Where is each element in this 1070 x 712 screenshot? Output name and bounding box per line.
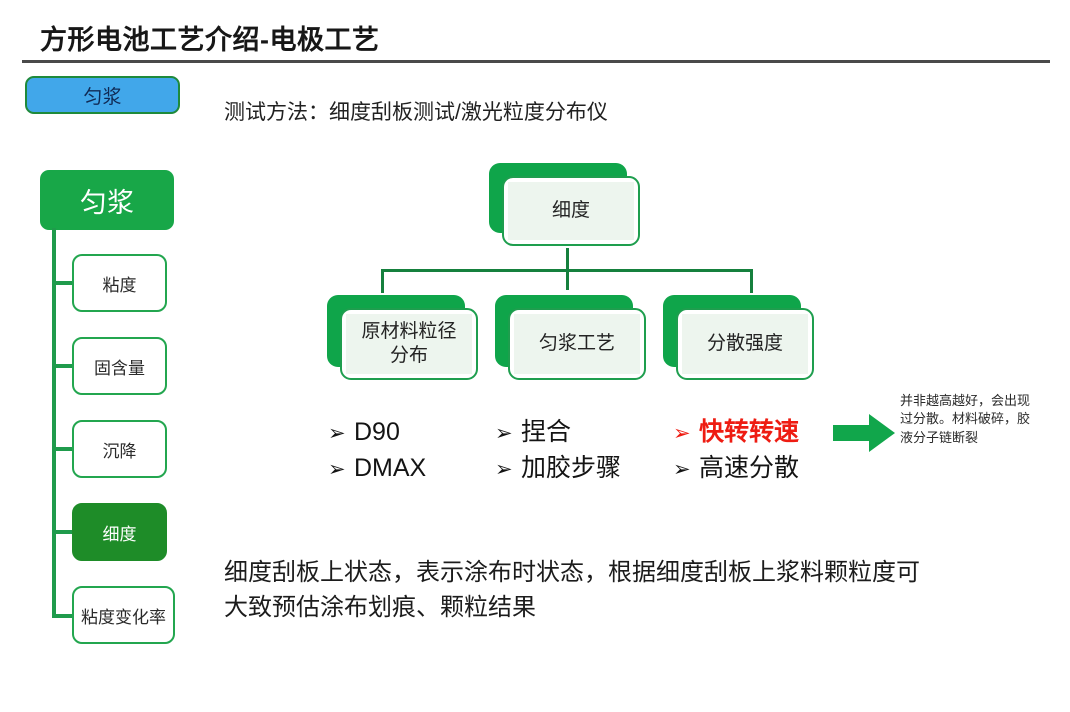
- bullet-item: ➢ 捏合: [495, 415, 621, 451]
- bullet-arrow-icon: ➢: [328, 419, 354, 449]
- bullet-item: ➢ 加胶步骤: [495, 451, 621, 487]
- tree-branch-line: [52, 281, 74, 285]
- bullet-label: 加胶步骤: [521, 451, 621, 487]
- flow-node-raw-material-particle-size[interactable]: 原材料粒径 分布: [327, 295, 465, 367]
- sidebar-item-solid-content[interactable]: 固含量: [72, 337, 167, 395]
- bullet-label: 高速分散: [699, 451, 799, 487]
- sidebar-item-label: 粘度: [103, 271, 137, 296]
- connector-horizontal: [381, 269, 753, 272]
- flow-node-root-label: 细度: [508, 182, 634, 240]
- bullet-arrow-icon: ➢: [328, 455, 354, 485]
- bottom-description-text: 细度刮板上状态，表示涂布时状态，根据细度刮板上浆料颗粒度可大致预估涂布划痕、颗粒…: [224, 556, 924, 626]
- flow-node-label: 分散强度: [682, 314, 808, 374]
- sidebar-item-sedimentation[interactable]: 沉降: [72, 420, 167, 478]
- bullet-label: DMAX: [354, 451, 426, 487]
- tree-branch-line: [52, 530, 74, 534]
- sidebar-tree: 匀浆 粘度 固含量 沉降 细度 粘度变化率: [0, 0, 215, 712]
- connector-left-down: [381, 269, 384, 293]
- bullet-column-3: ➢ 快转转速 ➢ 高速分散: [673, 415, 799, 486]
- bullet-arrow-icon: ➢: [673, 455, 699, 485]
- sidebar-item-label: 粘度变化率: [81, 603, 166, 628]
- side-note-text: 并非越高越好，会出现过分散。材料破碎，胶液分子链断裂: [900, 392, 1030, 447]
- sidebar-item-label: 沉降: [103, 437, 137, 462]
- flow-node-label: 匀浆工艺: [514, 314, 640, 374]
- bullet-item: ➢ D90: [328, 415, 426, 451]
- sidebar-item-fineness[interactable]: 细度: [72, 503, 167, 561]
- tree-branch-line: [52, 447, 74, 451]
- sidebar-item-label: 细度: [103, 520, 137, 545]
- bullet-column-2: ➢ 捏合 ➢ 加胶步骤: [495, 415, 621, 486]
- connector-right-down: [750, 269, 753, 293]
- sidebar-item-label: 固含量: [94, 354, 145, 379]
- bullet-item: ➢ 高速分散: [673, 451, 799, 487]
- bullet-label: D90: [354, 415, 400, 451]
- bullet-arrow-icon: ➢: [673, 419, 699, 449]
- bullet-label: 快转转速: [699, 415, 799, 451]
- tree-branch-line: [52, 614, 74, 618]
- flow-node-mixing-process[interactable]: 匀浆工艺: [495, 295, 633, 367]
- tree-branch-line: [52, 364, 74, 368]
- bullet-arrow-icon: ➢: [495, 455, 521, 485]
- flow-node-dispersion-intensity[interactable]: 分散强度: [663, 295, 801, 367]
- flow-node-root[interactable]: 细度: [489, 163, 627, 233]
- bullet-arrow-icon: ➢: [495, 419, 521, 449]
- test-method-text: 测试方法：细度刮板测试/激光粒度分布仪: [224, 96, 608, 126]
- sidebar-header-label: 匀浆: [80, 181, 134, 220]
- right-arrow-icon: [833, 414, 895, 452]
- bullet-item-highlighted: ➢ 快转转速: [673, 415, 799, 451]
- tree-trunk-line: [52, 228, 56, 618]
- bullet-item: ➢ DMAX: [328, 451, 426, 487]
- bullet-label: 捏合: [521, 415, 571, 451]
- sidebar-header-yunjiang[interactable]: 匀浆: [40, 170, 174, 230]
- sidebar-item-viscosity[interactable]: 粘度: [72, 254, 167, 312]
- bullet-column-1: ➢ D90 ➢ DMAX: [328, 415, 426, 486]
- flow-node-label: 原材料粒径 分布: [346, 314, 472, 374]
- sidebar-item-viscosity-change-rate[interactable]: 粘度变化率: [72, 586, 175, 644]
